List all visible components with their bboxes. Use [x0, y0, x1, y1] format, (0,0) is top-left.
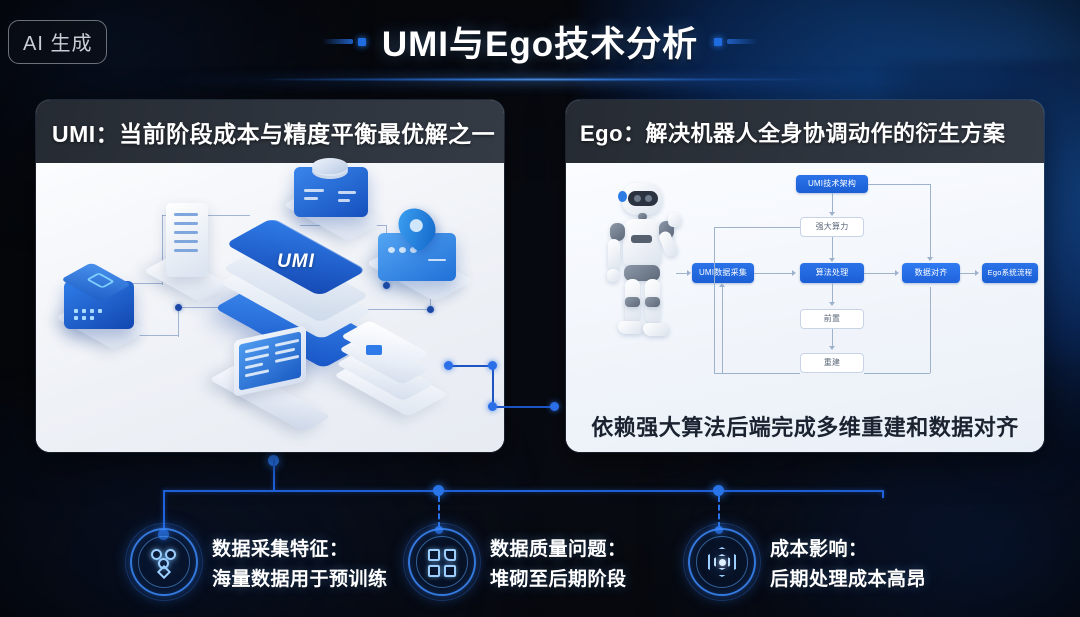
flow-node-n4: 算法处理: [800, 263, 864, 283]
feature-item-1[interactable]: 数据质量问题： 堆砌至后期阶段: [408, 528, 627, 596]
feature-0-line2: 海量数据用于预训练: [212, 564, 388, 591]
card-umi-body: UMI: [36, 163, 504, 452]
feature-2-line2: 后期处理成本高昂: [770, 564, 926, 591]
inter-card-connector: [440, 330, 610, 410]
feature-2-line1: 成本影响：: [770, 534, 926, 561]
grid-blocks-icon: [408, 528, 476, 596]
slide-canvas: AI 生成 UMI与Ego技术分析 UMI：当前阶段成本与精度平衡最优解之一: [0, 0, 1080, 617]
flow-node-n2: 强大算力: [800, 217, 864, 237]
feature-item-2[interactable]: 成本影响： 后期处理成本高昂: [688, 528, 926, 596]
shield-hexagon-icon: [688, 528, 756, 596]
title-underline: [260, 78, 820, 81]
ego-flowchart: UMI技术架构 强大算力 UMI数据采集 算法处理 数据对齐 Ego系统流程 前…: [684, 169, 1036, 399]
page-title: UMI与Ego技术分析: [382, 16, 698, 67]
page-title-row: UMI与Ego技术分析: [0, 16, 1080, 67]
cloud-storage-icon: [372, 211, 468, 297]
isometric-network-illustration: UMI: [36, 163, 504, 452]
laptop-icon: [212, 333, 332, 425]
chip-module-icon: [58, 267, 146, 349]
feature-0-line1: 数据采集特征：: [212, 534, 388, 561]
flow-node-n6: Ego系统流程: [982, 263, 1038, 283]
feature-1-line2: 堆砌至后期阶段: [490, 564, 627, 591]
flow-node-n7: 前置: [800, 309, 864, 329]
card-ego-body: UMI技术架构 强大算力 UMI数据采集 算法处理 数据对齐 Ego系统流程 前…: [566, 163, 1044, 452]
flow-node-n8: 重建: [800, 353, 864, 373]
card-umi-title: UMI：当前阶段成本与精度平衡最优解之一: [36, 100, 504, 163]
title-decoration-left: [323, 38, 366, 46]
flow-node-n1: UMI技术架构: [796, 175, 868, 193]
card-ego-caption: 依赖强大算法后端完成多维重建和数据对齐: [566, 410, 1044, 442]
feature-item-0[interactable]: 数据采集特征： 海量数据用于预训练: [130, 528, 388, 596]
ego-illustration: UMI技术架构 强大算力 UMI数据采集 算法处理 数据对齐 Ego系统流程 前…: [566, 163, 1044, 452]
ai-generated-badge: AI 生成: [8, 20, 107, 64]
flow-node-n5: 数据对齐: [902, 263, 960, 283]
title-decoration-right: [714, 38, 757, 46]
nodes-cluster-icon: [130, 528, 198, 596]
card-ego[interactable]: Ego：解决机器人全身协调动作的衍生方案: [566, 100, 1044, 452]
feature-1-line1: 数据质量问题：: [490, 534, 627, 561]
storage-array-icon: [336, 323, 446, 409]
card-umi[interactable]: UMI：当前阶段成本与精度平衡最优解之一: [36, 100, 504, 452]
humanoid-robot-icon: [598, 179, 688, 365]
server-rack-icon: [158, 203, 216, 299]
card-ego-title: Ego：解决机器人全身协调动作的衍生方案: [566, 100, 1044, 163]
flow-node-n3: UMI数据采集: [692, 263, 754, 283]
umi-center-label: UMI: [232, 251, 360, 273]
